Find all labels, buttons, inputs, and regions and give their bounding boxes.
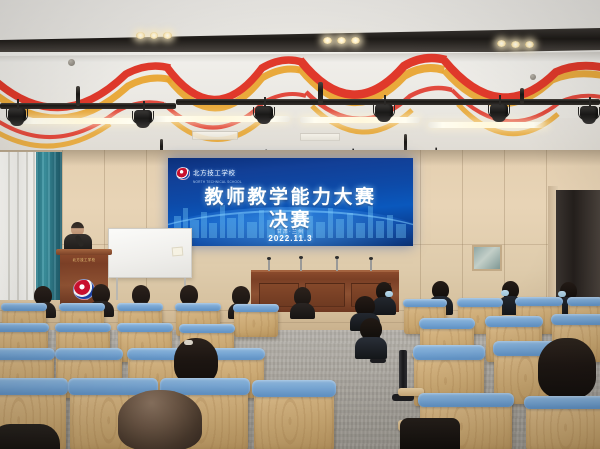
chair-headrest-pad (403, 299, 447, 307)
ceiling-led-strip-4 (428, 122, 548, 128)
table-microphone-4 (370, 259, 372, 271)
chair-headrest-pad (233, 304, 279, 312)
chair-headrest-pad (117, 303, 163, 311)
chair-headrest-pad (55, 348, 124, 360)
ceiling-light-panel (192, 131, 238, 140)
chair-headrest-pad (0, 378, 68, 395)
chair-headrest-pad (485, 316, 543, 327)
chair-headrest-pad (252, 380, 335, 397)
downlight-3 (163, 32, 172, 39)
wall-seam (546, 150, 547, 310)
audience-person-r3-right (355, 318, 387, 358)
whiteboard-note (172, 247, 184, 257)
chair-headrest-pad (515, 297, 563, 306)
chair-headrest-pad (0, 323, 49, 332)
ceiling-led-strip-3 (300, 117, 420, 123)
curtain-fold (26, 152, 28, 300)
whiteboard-leg-left (116, 278, 118, 300)
whiteboard (108, 228, 192, 278)
truss-vertical-drop-right (520, 88, 524, 104)
chair-headrest-pad (117, 323, 173, 332)
chair-headrest-pad (418, 393, 514, 407)
chair-headrest-pad (179, 324, 235, 333)
chair-rowD-4[interactable] (254, 386, 334, 449)
stage-light-3 (255, 106, 273, 121)
chair-rowD-6[interactable] (526, 400, 600, 449)
auditorium-photo: 北方技工学校 NORTH TECHNICAL SCHOOL 教师教学能力大赛 决… (0, 0, 600, 449)
person-shoulders (290, 303, 315, 319)
truss-vertical-drop-left (76, 86, 80, 106)
ceiling-led-strip-1 (18, 118, 146, 124)
microphone-head (335, 256, 339, 259)
microphone-head (369, 257, 373, 260)
stage-light-stem (143, 101, 145, 111)
curtain-fold (8, 152, 10, 300)
microphone-head (267, 257, 271, 260)
table-microphone-1 (268, 259, 270, 271)
chair-headrest-pad (0, 348, 55, 360)
screen-org-name: 北方技工学校 (193, 170, 236, 177)
chair-headrest-pad (551, 314, 600, 325)
chair-headrest-pad (567, 297, 600, 306)
hair-clip-icon (184, 340, 193, 345)
teal-curtain-panel (36, 152, 62, 300)
wall-seam (462, 150, 463, 310)
screen-date-text: 2022.11.3 (168, 234, 413, 243)
foreground-person-shoulder-left (0, 424, 60, 449)
face-mask (501, 290, 509, 296)
truss-vertical-drop-mid (318, 82, 323, 104)
chair-headrest-pad (59, 303, 105, 311)
curtain-fold (17, 152, 19, 300)
screen-school-logo: 北方技工学校 NORTH TECHNICAL SCHOOL (176, 162, 242, 184)
chair-rowA-5[interactable] (234, 307, 278, 337)
stage-light-6 (580, 106, 598, 121)
led-stage-screen: 北方技工学校 NORTH TECHNICAL SCHOOL 教师教学能力大赛 决… (168, 158, 413, 246)
chair-headrest-pad (413, 345, 486, 360)
stage-light-stem (499, 95, 501, 105)
stage-light-2 (134, 110, 152, 125)
podium-top-surface (56, 249, 112, 255)
podium-name-plate: 北方技工学校 (60, 257, 108, 262)
person-head-long-hair (538, 338, 596, 398)
stage-light-stem (589, 97, 591, 107)
table-microphone-3 (336, 258, 338, 271)
face-mask (385, 291, 393, 297)
audience-person-longhair-right (538, 338, 596, 398)
person-head-short-hair (118, 390, 202, 449)
wall-control-panel[interactable] (472, 245, 502, 271)
chair-headrest-pad (524, 396, 600, 409)
chair-headrest-pad (55, 323, 111, 332)
audience-person-r1-6 (290, 287, 315, 318)
downlight-1 (136, 32, 145, 39)
foreground-person-head (118, 390, 202, 449)
curtain-fold (33, 152, 35, 300)
wall-seam (420, 150, 421, 310)
microphone-head (299, 256, 303, 259)
stage-light-1 (8, 108, 26, 123)
stage-light-4 (375, 104, 393, 119)
stage-light-5 (490, 104, 508, 119)
ceiling-light-panel-2 (300, 133, 340, 141)
chair-headrest-pad (457, 298, 503, 307)
chair-headrest-pad (175, 303, 221, 311)
stage-light-stem (384, 95, 386, 105)
school-crest-icon (176, 167, 190, 180)
stage-light-stem (264, 97, 266, 107)
chair-headrest-pad (1, 303, 47, 311)
foreground-seat-edge-right (400, 418, 460, 449)
stage-light-stem (17, 99, 19, 109)
person-shoulders (355, 337, 387, 359)
chair-headrest-pad (419, 318, 475, 328)
downlight-2 (150, 32, 158, 39)
table-microphone-2 (300, 258, 302, 271)
